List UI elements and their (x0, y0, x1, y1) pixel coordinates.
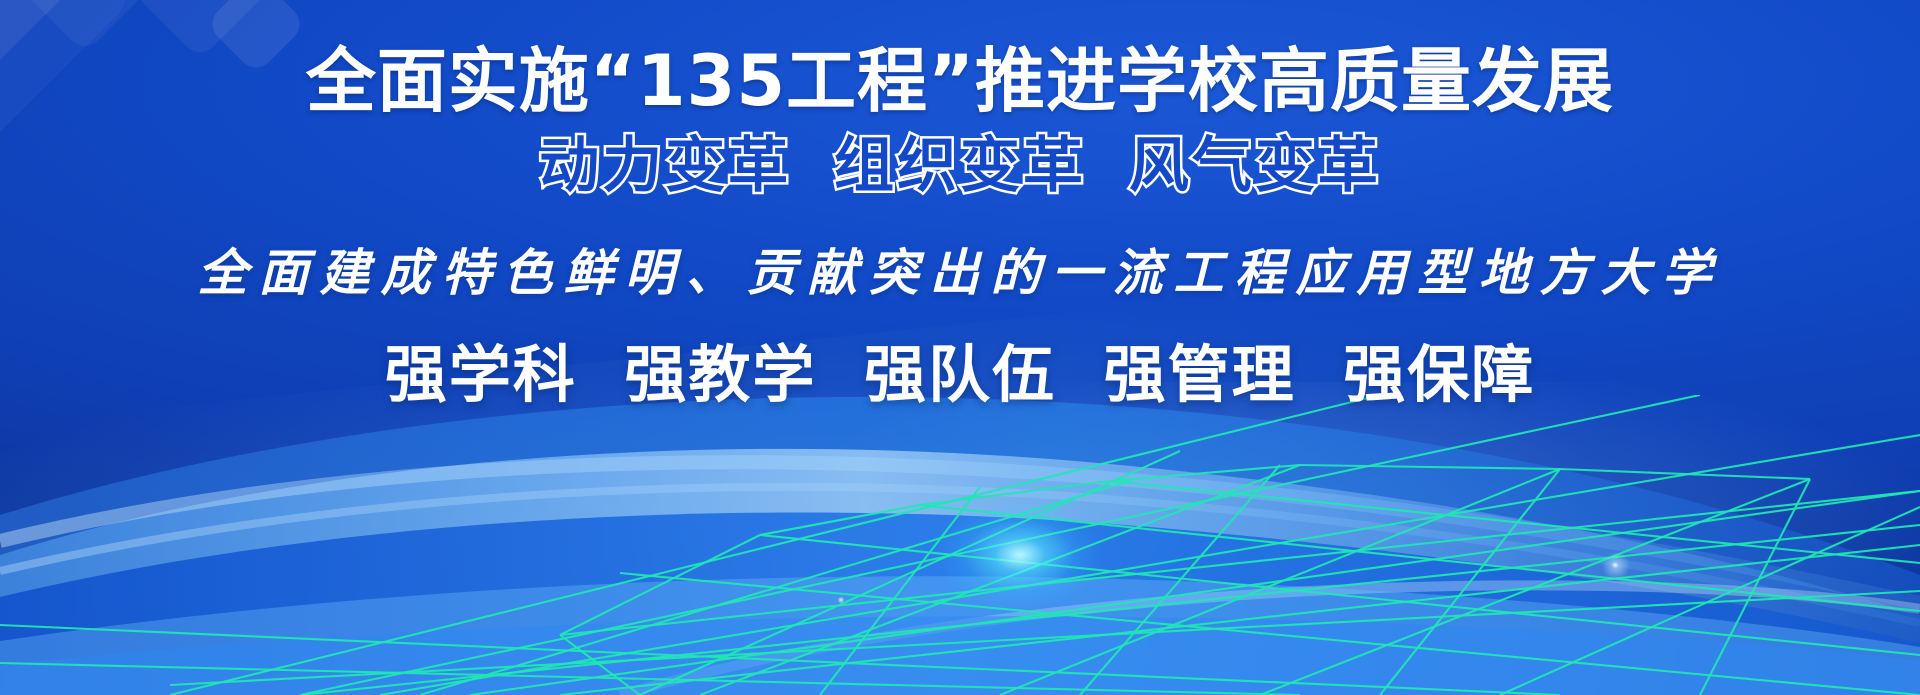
subline-item-1: 动力变革 (539, 131, 791, 201)
slogan-spacer-2 (816, 338, 864, 411)
banner-text-block: 全面实施“135工程”推进学校高质量发展 动力变革 组织变革 风气变革 全面建成… (0, 0, 1920, 695)
slogan-item-5: 强保障 (1343, 338, 1535, 411)
banner-slogan-group: 强学科 强教学 强队伍 强管理 强保障 (385, 344, 1535, 406)
slogan-item-3: 强队伍 (864, 338, 1056, 411)
subline-item-2: 组织变革 (834, 131, 1086, 201)
banner-calligraphy-line: 全面建成特色鲜明、贡献突出的一流工程应用型地方大学 (198, 248, 1723, 298)
promo-banner: 全面实施“135工程”推进学校高质量发展 动力变革 组织变革 风气变革 全面建成… (0, 0, 1920, 695)
subline-spacer-2 (1086, 131, 1129, 201)
banner-subline-group: 动力变革 组织变革 风气变革 (539, 136, 1381, 196)
slogan-spacer-3 (1056, 338, 1104, 411)
slogan-item-1: 强学科 (385, 338, 577, 411)
slogan-item-4: 强管理 (1104, 338, 1296, 411)
slogan-spacer-4 (1296, 338, 1344, 411)
subline-spacer-1 (791, 131, 834, 201)
subline-item-3: 风气变革 (1129, 131, 1381, 201)
banner-headline: 全面实施“135工程”推进学校高质量发展 (306, 46, 1614, 116)
slogan-item-2: 强教学 (624, 338, 816, 411)
slogan-spacer-1 (577, 338, 625, 411)
